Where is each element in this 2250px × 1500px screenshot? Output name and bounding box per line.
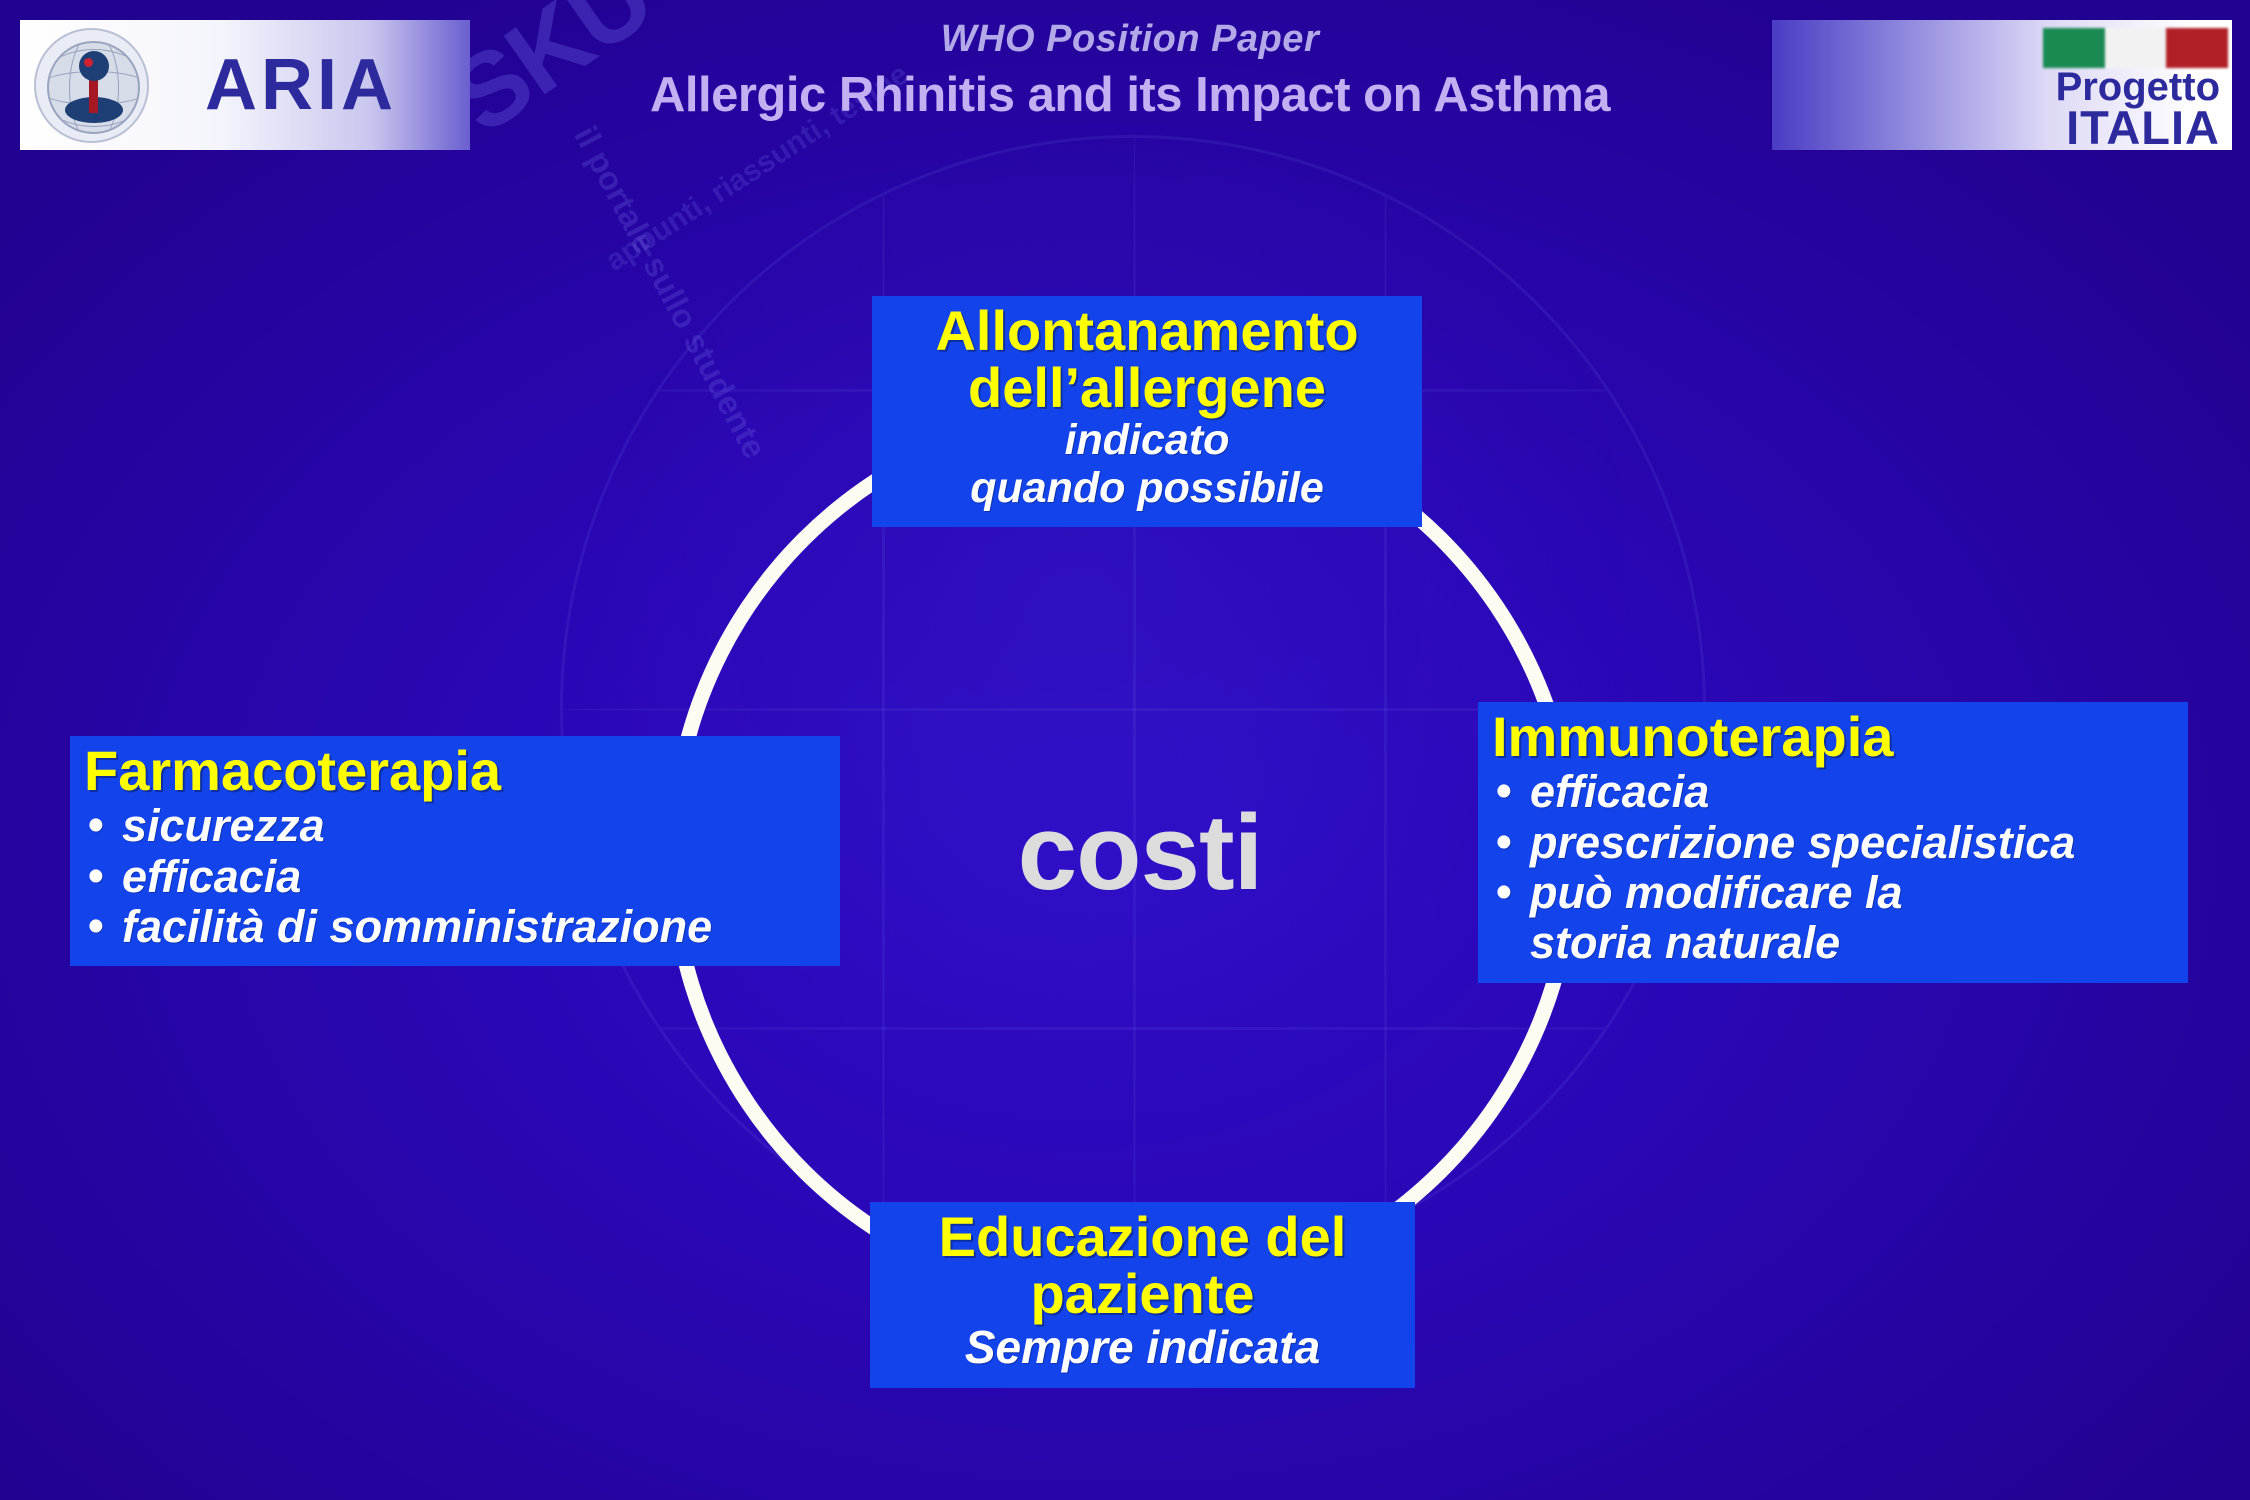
italia-label: ITALIA <box>2056 106 2220 150</box>
box-educazione-paziente[interactable]: Educazione del paziente Sempre indicata <box>870 1202 1415 1388</box>
aria-globe-emblem-icon <box>34 28 149 143</box>
box-bottom-title: Educazione del paziente <box>884 1208 1401 1322</box>
box-left-title: Farmacoterapia <box>84 742 826 799</box>
aria-logo: ARIA <box>20 20 470 150</box>
aria-wordmark: ARIA <box>205 44 397 126</box>
box-immunoterapia[interactable]: Immunoterapia efficacia prescrizione spe… <box>1478 702 2188 983</box>
box-top-title: Allontanamento dell’allergene <box>886 302 1408 416</box>
italian-flag-icon <box>2043 28 2228 68</box>
box-left-bullet-list: sicurezza efficacia facilità di somminis… <box>84 801 826 952</box>
slide-header: ARIA WHO Position Paper Allergic Rhiniti… <box>0 0 2250 170</box>
list-item-line-2: storia naturale <box>1530 918 2174 968</box>
page-title: WHO Position Paper Allergic Rhinitis and… <box>600 18 1660 123</box>
progetto-italia-wordmark: Progetto ITALIA <box>2056 68 2220 150</box>
box-allontanamento-allergene[interactable]: Allontanamento dell’allergene indicato q… <box>872 296 1422 527</box>
box-top-subline-1: indicato <box>886 416 1408 464</box>
slide-canvas: SKUOLA.net il portale sullo studente app… <box>0 0 2250 1500</box>
list-item: può modificare la storia naturale <box>1492 868 2174 969</box>
list-item: efficacia <box>84 852 826 902</box>
list-item: facilità di somministrazione <box>84 902 826 952</box>
box-top-subline-2: quando possibile <box>886 464 1408 512</box>
who-position-paper-label: WHO Position Paper <box>600 18 1660 61</box>
box-bottom-subline-1: Sempre indicata <box>884 1322 1401 1374</box>
list-item: sicurezza <box>84 801 826 851</box>
box-farmacoterapia[interactable]: Farmacoterapia sicurezza efficacia facil… <box>70 736 840 966</box>
list-item-line-1: può modificare la <box>1530 867 1903 918</box>
box-right-title: Immunoterapia <box>1492 708 2174 765</box>
slide-main-title: Allergic Rhinitis and its Impact on Asth… <box>600 67 1660 123</box>
list-item: efficacia <box>1492 767 2174 817</box>
list-item: prescrizione specialistica <box>1492 818 2174 868</box>
box-right-bullet-list: efficacia prescrizione specialistica può… <box>1492 767 2174 969</box>
progetto-italia-logo: Progetto ITALIA <box>1772 20 2232 150</box>
